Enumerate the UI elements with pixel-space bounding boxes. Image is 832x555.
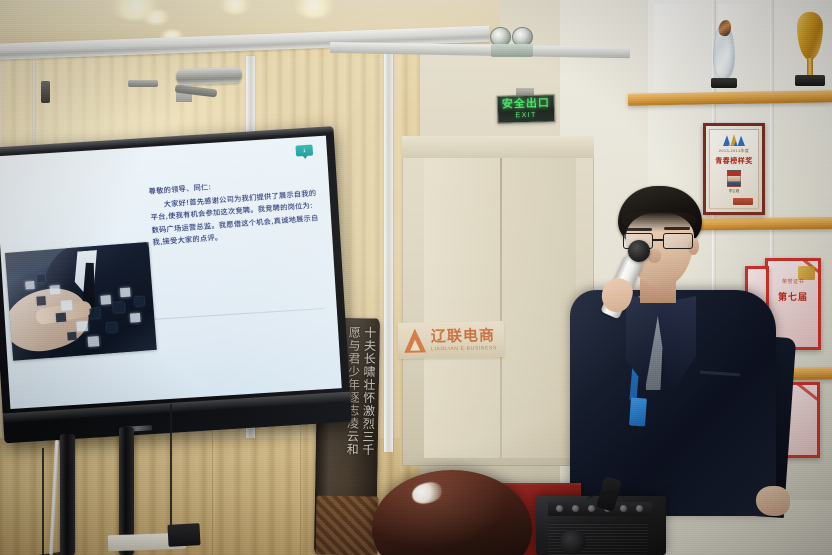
slide-stock-photo xyxy=(5,242,157,361)
slide-photo-icon-square xyxy=(120,288,131,298)
emergency-light-fixture xyxy=(489,27,535,57)
slide-page-badge: 1 xyxy=(295,144,313,156)
company-sign-chinese: 辽联电商 xyxy=(431,328,497,344)
certificate-portrait xyxy=(727,170,741,187)
photo-scene: 安全出口 EXIT 辽联电商 LIAOLIAN E-BUSINESS 十夫长啸壮… xyxy=(0,0,832,555)
presenter-right-hand xyxy=(756,486,790,516)
crystal-trophy xyxy=(711,22,737,88)
slide-photo-icon-square xyxy=(88,336,100,347)
elevator-door-split xyxy=(500,158,502,458)
presenter xyxy=(560,186,790,516)
gold-trophy xyxy=(793,12,827,90)
door-closer-icon xyxy=(176,67,243,85)
slide-photo-icon-square xyxy=(89,308,100,319)
slide-photo-icon-square xyxy=(50,285,61,295)
pa-speaker-driver xyxy=(560,530,586,554)
ceiling-light xyxy=(140,10,172,24)
elevator-header xyxy=(402,136,594,158)
gold-trophy-cup xyxy=(797,12,823,60)
certificate-year: 2013-2014年度 xyxy=(719,148,749,154)
exit-sign: 安全出口 EXIT xyxy=(497,94,556,124)
certificate-title: 青春榜样奖 xyxy=(715,156,753,166)
slide-photo-icon-square xyxy=(130,313,141,323)
company-sign-english: LIAOLIAN E-BUSINESS xyxy=(431,345,497,352)
pa-knob xyxy=(556,505,563,512)
pa-knob xyxy=(636,505,643,512)
tv-screen: 1 xyxy=(0,136,342,409)
gold-trophy-base xyxy=(795,75,825,86)
slide-photo-icon-square xyxy=(56,313,67,323)
slide-photo-icon-square xyxy=(76,321,88,332)
door-frame-vertical-right xyxy=(384,52,393,452)
presenter-brow-left xyxy=(626,228,652,231)
pa-knob xyxy=(572,505,579,512)
tv-signal-cable-right xyxy=(170,404,172,534)
certificate-logo-icon xyxy=(723,134,745,146)
door-bracket xyxy=(128,80,158,87)
company-sign-text-block: 辽联电商 LIAOLIAN E-BUSINESS xyxy=(431,328,497,352)
slide-photo-icon-square xyxy=(100,295,111,305)
door-hinge-icon xyxy=(41,81,50,103)
slide-photo-icon-square xyxy=(25,281,35,290)
pillar-base xyxy=(315,495,378,555)
slide-photo-icon-square xyxy=(61,300,73,311)
slide-photo-icon-square xyxy=(37,274,46,283)
slide-body-text: 尊敬的领导、同仁: 大家好!首先感谢公司为我们提供了展示自我的平台,使我有机会参… xyxy=(148,173,322,250)
presentation-display: 1 xyxy=(0,126,352,443)
exit-sign-chinese: 安全出口 xyxy=(502,98,550,110)
slide-photo-icon-square xyxy=(67,332,77,341)
company-wall-sign: 辽联电商 LIAOLIAN E-BUSINESS xyxy=(398,321,505,359)
tv-signal-cable xyxy=(42,448,44,555)
gold-trophy-stem xyxy=(807,58,813,76)
glasses-lens-right xyxy=(663,233,693,249)
slide-photo-icon-square xyxy=(107,323,118,333)
liaolian-logo-icon xyxy=(404,328,426,352)
slide-divider-line xyxy=(155,308,325,320)
crystal-trophy-base xyxy=(711,78,737,88)
exit-sign-english: EXIT xyxy=(515,112,536,120)
presenter-id-badge xyxy=(629,397,647,426)
slide-photo-icon-square xyxy=(113,302,125,313)
tv-stand-leg-left xyxy=(60,434,75,555)
glasses-bridge xyxy=(653,239,663,241)
microphone-head-icon xyxy=(628,240,650,262)
power-adapter xyxy=(167,523,200,547)
slide-photo-icon-square xyxy=(135,297,145,307)
emergency-light-body xyxy=(491,44,533,57)
presenter-brow-right xyxy=(664,227,690,230)
slide-photo-icon-square xyxy=(36,296,46,306)
